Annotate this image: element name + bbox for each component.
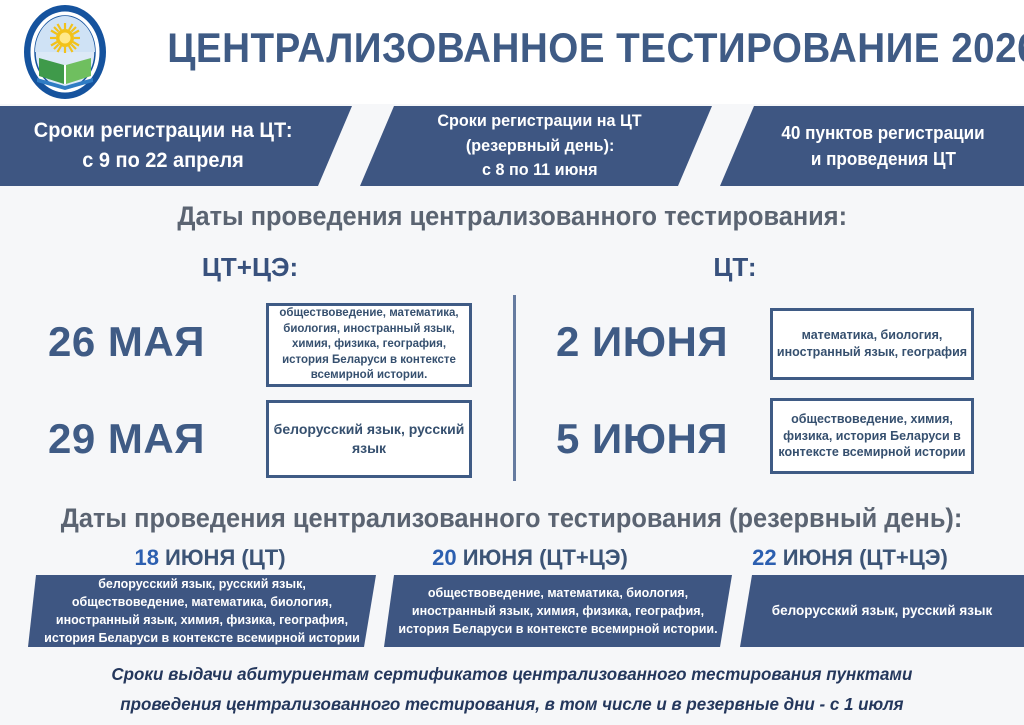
subject-box-26may: обществоведение, математика, биология, и… xyxy=(266,303,472,387)
reserve-date-rest: ИЮНЯ (ЦТ+ЦЭ) xyxy=(457,545,628,570)
header: ЦЕНТРАЛИЗОВАННОЕ ТЕСТИРОВАНИЕ 2026 xyxy=(0,0,1024,104)
banner-line: с 9 по 22 апреля xyxy=(82,146,244,176)
reserve-date-20june: 20 ИЮНЯ (ЦТ+ЦЭ) xyxy=(370,545,690,571)
reserve-date-number: 18 xyxy=(134,545,158,570)
banner-strip: Сроки регистрации на ЦТ: с 9 по 22 апрел… xyxy=(0,106,1024,186)
subject-box-29may: белорусский язык, русский язык xyxy=(266,400,472,478)
footer-note: Сроки выдачи абитуриентам сертификатов ц… xyxy=(0,655,1024,725)
reserve-date-rest: ИЮНЯ (ЦТ) xyxy=(159,545,286,570)
column-label-ct-ce: ЦТ+ЦЭ: xyxy=(120,252,380,283)
exam-date-2june: 2 ИЮНЯ xyxy=(556,318,728,366)
page-title: ЦЕНТРАЛИЗОВАННОЕ ТЕСТИРОВАНИЕ 2026 xyxy=(167,24,977,72)
reserve-date-rest: ИЮНЯ (ЦТ+ЦЭ) xyxy=(777,545,948,570)
main-section-heading-text: Даты проведения централизованного тестир… xyxy=(177,201,847,232)
main-section-heading: Даты проведения централизованного тестир… xyxy=(0,201,1024,232)
banner-panel-registration-points: 40 пунктов регистрации и проведения ЦТ xyxy=(720,106,1024,186)
reserve-date-18june: 18 ИЮНЯ (ЦТ) xyxy=(50,545,370,571)
column-divider xyxy=(513,295,516,481)
ministry-of-education-belarus-emblem-icon xyxy=(17,4,113,100)
infographic-page: ЦЕНТРАЛИЗОВАННОЕ ТЕСТИРОВАНИЕ 2026 Сроки… xyxy=(0,0,1024,725)
subject-box-2june: математика, биология, иностранный язык, … xyxy=(770,308,974,380)
banner-line: 40 пунктов регистрации xyxy=(781,120,984,146)
banner-panel-registration-dates: Сроки регистрации на ЦТ: с 9 по 22 апрел… xyxy=(0,106,352,186)
banner-line: Сроки регистрации на ЦТ xyxy=(438,109,642,134)
reserve-date-number: 20 xyxy=(432,545,456,570)
banner-line: Сроки регистрации на ЦТ: xyxy=(34,116,293,146)
banner-line: (резервный день): xyxy=(466,134,614,159)
exam-date-29may: 29 МАЯ xyxy=(48,415,205,463)
reserve-subject-box-20june: обществоведение, математика, биология, и… xyxy=(384,575,732,647)
exam-date-5june: 5 ИЮНЯ xyxy=(556,415,728,463)
reserve-section-heading-text: Даты проведения централизованного тестир… xyxy=(61,503,963,534)
reserve-subject-box-18june: белорусский язык, русский язык, общество… xyxy=(28,575,376,647)
subject-box-5june: обществоведение, химия, физика, история … xyxy=(770,398,974,474)
reserve-date-number: 22 xyxy=(752,545,776,570)
banner-panel-registration-dates-reserve: Сроки регистрации на ЦТ (резервный день)… xyxy=(360,106,712,186)
column-label-ct: ЦТ: xyxy=(610,252,860,283)
footer-line-1: Сроки выдачи абитуриентам сертификатов ц… xyxy=(112,660,913,690)
banner-line: с 8 по 11 июня xyxy=(482,158,598,183)
footer-line-2: проведения централизованного тестировани… xyxy=(112,690,913,720)
reserve-subject-box-22june: белорусский язык, русский язык xyxy=(740,575,1024,647)
banner-line: и проведения ЦТ xyxy=(810,146,955,172)
exam-date-26may: 26 МАЯ xyxy=(48,318,205,366)
reserve-section-heading: Даты проведения централизованного тестир… xyxy=(0,503,1024,534)
reserve-date-22june: 22 ИЮНЯ (ЦТ+ЦЭ) xyxy=(690,545,1010,571)
